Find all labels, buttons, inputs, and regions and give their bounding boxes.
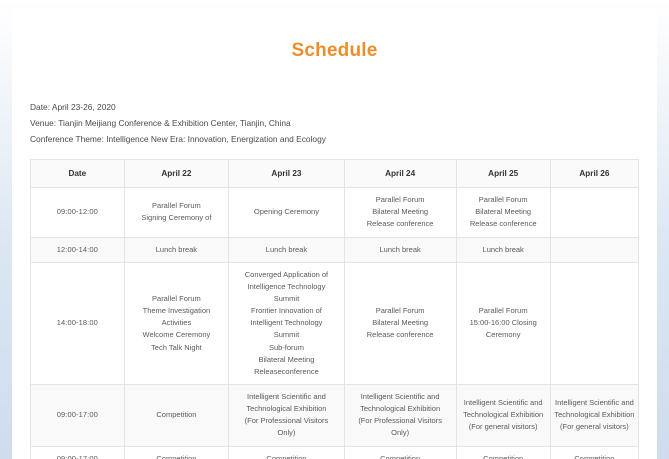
schedule-cell-line: Summit xyxy=(232,293,341,305)
schedule-cell-line: Theme Investigation xyxy=(128,305,226,317)
schedule-cell-line: Bilateral Meeting xyxy=(460,206,547,218)
column-header-day-5: April 26 xyxy=(550,159,638,187)
schedule-cell-line: Lunch break xyxy=(232,244,341,256)
schedule-cell-line: Lunch break xyxy=(348,244,453,256)
schedule-cell-line: Ceremony xyxy=(460,329,547,341)
schedule-cell-line: Technological Exhibition xyxy=(232,403,341,415)
schedule-cell: Competition xyxy=(124,385,229,447)
column-header-day-3: April 24 xyxy=(344,159,456,187)
meta-theme: Conference Theme: Intelligence New Era: … xyxy=(30,132,639,148)
table-header: DateApril 22April 23April 24April 25Apri… xyxy=(31,159,639,187)
schedule-cell xyxy=(550,188,638,237)
schedule-cell-line: Competition xyxy=(554,453,635,459)
schedule-cell-line: Parallel Forum xyxy=(348,194,453,206)
schedule-cell-line: Competition xyxy=(460,453,547,459)
schedule-cell-line: Only) xyxy=(232,427,341,439)
schedule-cell-line: Competition xyxy=(128,409,226,421)
schedule-cell-line: Parallel Forum xyxy=(128,293,226,305)
schedule-cell-line: Technological Exhibition xyxy=(348,403,453,415)
schedule-cell-line: Opening Ceremony xyxy=(232,206,341,218)
schedule-cell-line: (For Professional Visitors xyxy=(348,415,453,427)
schedule-cell-line: Bilateral Meeting xyxy=(348,317,453,329)
schedule-cell-line: Activities xyxy=(128,317,226,329)
schedule-cell-line: Lunch break xyxy=(460,244,547,256)
document-page: Schedule Date: April 23-26, 2020 Venue: … xyxy=(12,10,657,459)
document-viewport: Schedule Date: April 23-26, 2020 Venue: … xyxy=(0,0,669,459)
schedule-cell-line: Only) xyxy=(348,427,453,439)
schedule-cell-line: Intelligent Scientific and xyxy=(348,391,453,403)
time-slot-cell: 12:00-14:00 xyxy=(31,237,125,262)
schedule-cell-line: Intelligent Scientific and xyxy=(554,397,635,409)
schedule-cell-line: 15:00-16:00 Closing xyxy=(460,317,547,329)
schedule-cell-line: Parallel Forum xyxy=(128,200,226,212)
schedule-cell-line: Competition xyxy=(232,453,341,459)
table-body: 09:00-12:00Parallel ForumSigning Ceremon… xyxy=(31,188,639,459)
schedule-cell-line: Competition xyxy=(128,453,226,459)
schedule-cell-line: Frontier Innovation of xyxy=(232,305,341,317)
schedule-cell-line: Signing Ceremony of xyxy=(128,212,226,224)
schedule-cell: Intelligent Scientific andTechnological … xyxy=(456,385,550,447)
meta-venue: Venue: Tianjin Meijiang Conference & Exh… xyxy=(30,116,639,132)
schedule-cell: Parallel ForumBilateral MeetingRelease c… xyxy=(344,188,456,237)
table-row: 09:00-17:00CompetitionCompetitionCompeti… xyxy=(31,446,639,459)
schedule-cell-line: Bilateral Meeting xyxy=(348,206,453,218)
schedule-cell-line: Releaseconference xyxy=(232,366,341,378)
schedule-cell: Lunch break xyxy=(456,237,550,262)
table-row: 09:00-12:00Parallel ForumSigning Ceremon… xyxy=(31,188,639,237)
schedule-cell: Intelligent Scientific andTechnological … xyxy=(550,385,638,447)
table-row: 12:00-14:00Lunch breakLunch breakLunch b… xyxy=(31,237,639,262)
schedule-cell-line: Lunch break xyxy=(128,244,226,256)
schedule-cell-line: Parallel Forum xyxy=(460,305,547,317)
schedule-cell: Competition xyxy=(550,446,638,459)
table-row: 09:00-17:00CompetitionIntelligent Scient… xyxy=(31,385,639,447)
schedule-cell-line: (For general visitors) xyxy=(554,421,635,433)
time-slot-cell: 09:00-17:00 xyxy=(31,385,125,447)
schedule-cell-line: Tech Talk Night xyxy=(128,342,226,354)
schedule-cell: Lunch break xyxy=(344,237,456,262)
schedule-cell: Competition xyxy=(229,446,345,459)
schedule-cell-line: (For Professional Visitors xyxy=(232,415,341,427)
schedule-cell: Parallel ForumTheme InvestigationActivit… xyxy=(124,262,229,384)
schedule-cell-line: Welcome Ceremony xyxy=(128,329,226,341)
schedule-cell-line: Intelligent Scientific and xyxy=(232,391,341,403)
schedule-cell-line: Release conference xyxy=(348,329,453,341)
schedule-table: DateApril 22April 23April 24April 25Apri… xyxy=(30,159,639,459)
schedule-cell-line: Intelligent Technology xyxy=(232,317,341,329)
schedule-cell: Parallel Forum15:00-16:00 ClosingCeremon… xyxy=(456,262,550,384)
schedule-cell xyxy=(550,262,638,384)
schedule-cell-line: Bilateral Meeting xyxy=(232,354,341,366)
schedule-cell-line: (For general visitors) xyxy=(460,421,547,433)
schedule-cell: Intelligent Scientific andTechnological … xyxy=(229,385,345,447)
header-row: DateApril 22April 23April 24April 25Apri… xyxy=(31,159,639,187)
schedule-cell-line: Release conference xyxy=(460,218,547,230)
schedule-cell-line: Sub-forum xyxy=(232,342,341,354)
column-header-date: Date xyxy=(31,159,125,187)
page-title: Schedule xyxy=(30,10,639,62)
column-header-day-2: April 23 xyxy=(229,159,345,187)
table-row: 14:00-18:00Parallel ForumTheme Investiga… xyxy=(31,262,639,384)
schedule-cell: Lunch break xyxy=(229,237,345,262)
schedule-cell: Competition xyxy=(344,446,456,459)
meta-date: Date: April 23-26, 2020 xyxy=(30,100,639,116)
schedule-cell: Converged Application ofIntelligence Tec… xyxy=(229,262,345,384)
column-header-day-4: April 25 xyxy=(456,159,550,187)
schedule-cell: Parallel ForumBilateral MeetingRelease c… xyxy=(344,262,456,384)
time-slot-cell: 09:00-12:00 xyxy=(31,188,125,237)
schedule-cell: Lunch break xyxy=(124,237,229,262)
schedule-cell xyxy=(550,237,638,262)
schedule-cell: Competition xyxy=(124,446,229,459)
schedule-cell: Competition xyxy=(456,446,550,459)
time-slot-cell: 09:00-17:00 xyxy=(31,446,125,459)
schedule-cell: Intelligent Scientific andTechnological … xyxy=(344,385,456,447)
schedule-cell: Opening Ceremony xyxy=(229,188,345,237)
schedule-cell-line: Technological Exhibition xyxy=(460,409,547,421)
schedule-cell: Parallel ForumBilateral MeetingRelease c… xyxy=(456,188,550,237)
schedule-cell-line: Intelligence Technology xyxy=(232,281,341,293)
schedule-cell-line: Technological Exhibition xyxy=(554,409,635,421)
schedule-cell-line: Parallel Forum xyxy=(348,305,453,317)
schedule-cell-line: Release conference xyxy=(348,218,453,230)
schedule-cell-line: Summit xyxy=(232,329,341,341)
schedule-cell-line: Competition xyxy=(348,453,453,459)
conference-meta: Date: April 23-26, 2020 Venue: Tianjin M… xyxy=(30,100,639,148)
column-header-day-1: April 22 xyxy=(124,159,229,187)
schedule-cell-line: Parallel Forum xyxy=(460,194,547,206)
schedule-cell-line: Converged Application of xyxy=(232,269,341,281)
time-slot-cell: 14:00-18:00 xyxy=(31,262,125,384)
schedule-cell-line: Intelligent Scientific and xyxy=(460,397,547,409)
schedule-cell: Parallel ForumSigning Ceremony of xyxy=(124,188,229,237)
